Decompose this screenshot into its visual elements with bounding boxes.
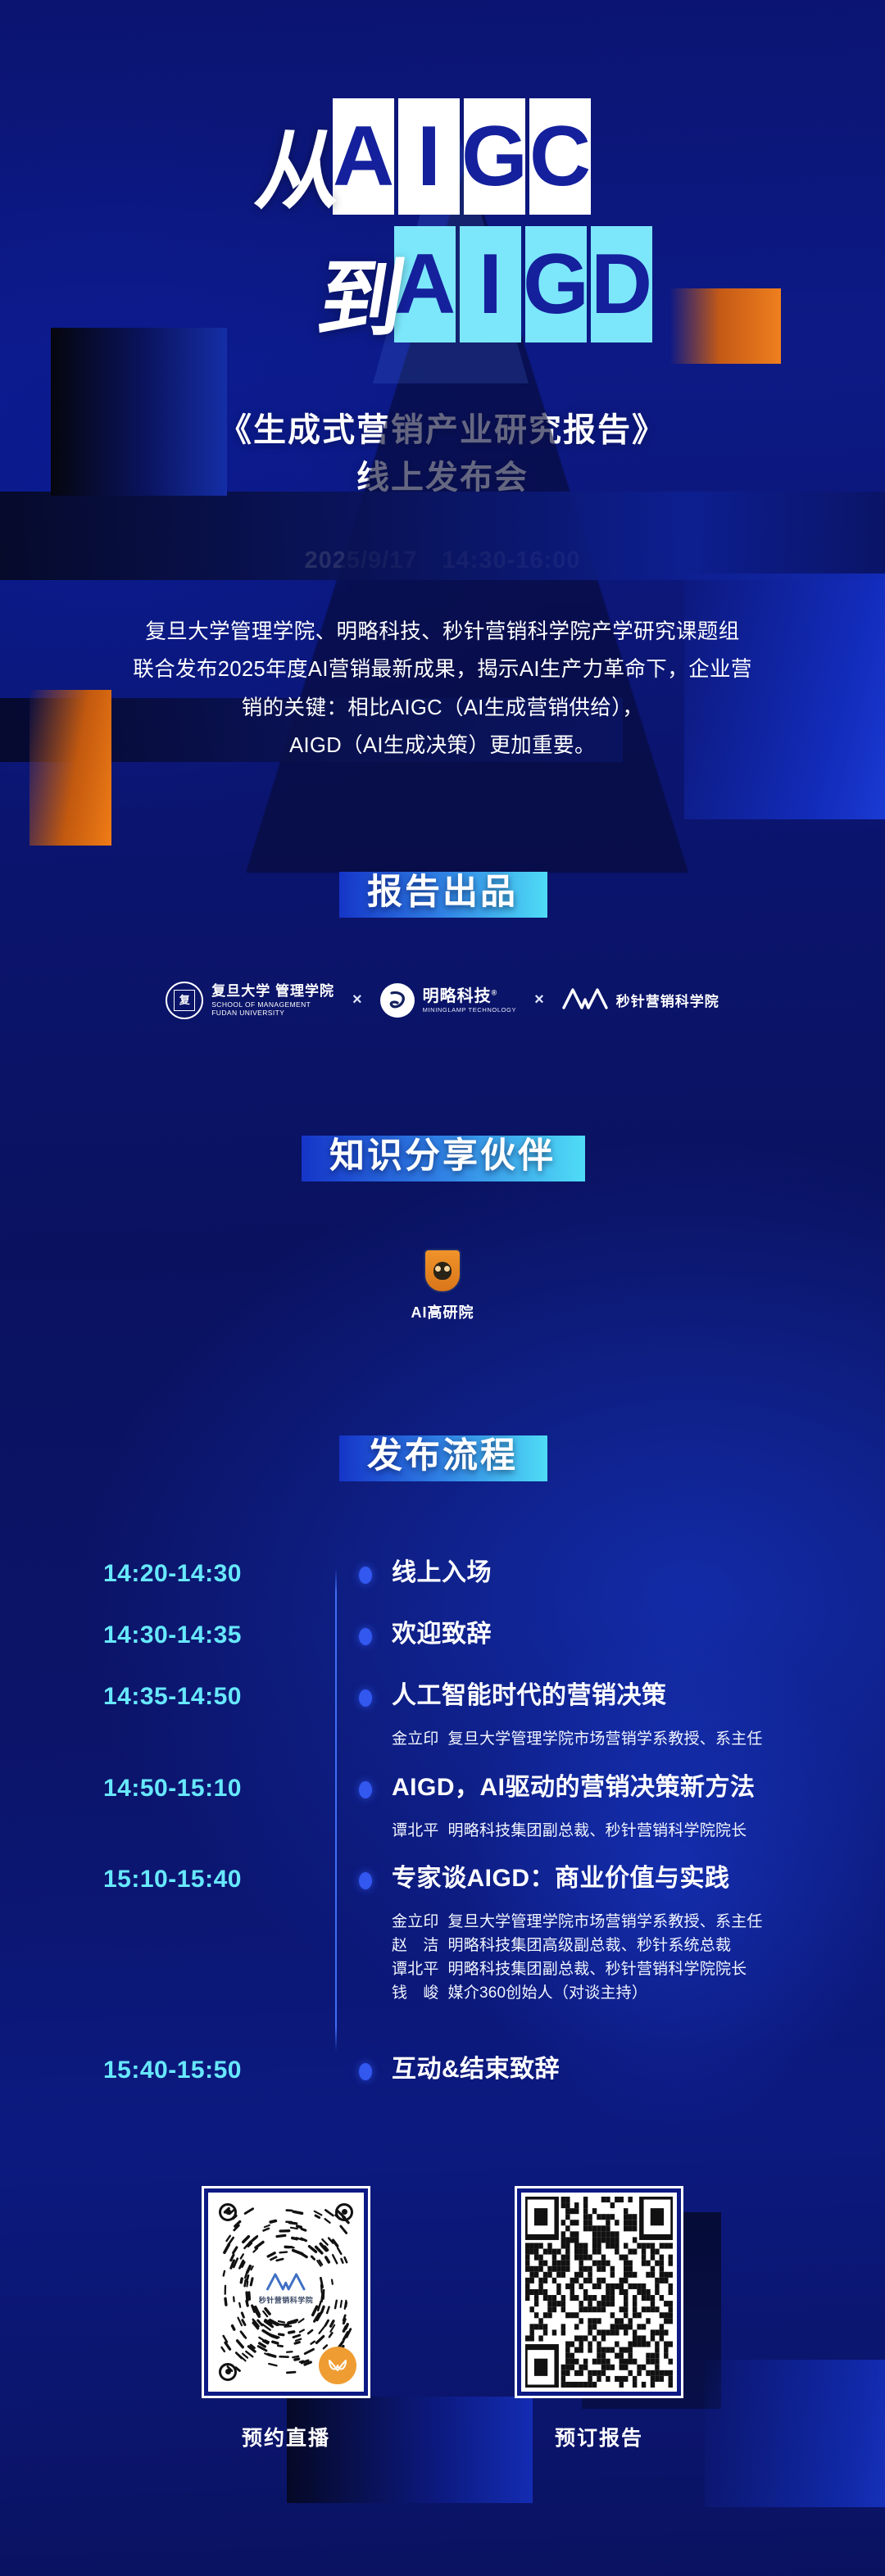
agenda-time: 14:30-14:35 xyxy=(103,1618,339,1649)
agenda-dot-cell xyxy=(339,1680,392,1707)
logo-minglamp: 明略科技® MININGLAMP TECHNOLOGY xyxy=(380,983,516,1018)
timeline-dot-icon xyxy=(359,1781,372,1798)
agenda-topic: 人工智能时代的营销决策 xyxy=(392,1680,836,1712)
agenda-speakers: 谭北平 明略科技集团副总裁、秒针营销科学院院长 xyxy=(392,1820,836,1844)
agenda-topic: 专家谈AIGD：商业价值与实践 xyxy=(392,1862,836,1894)
fudan-name-en-2: FUDAN UNIVERSITY xyxy=(211,1009,334,1017)
hero-title-cjk-from: 从 xyxy=(251,131,344,215)
miaozhen-mark-icon xyxy=(562,986,608,1014)
minglamp-name-cn: 明略科技® xyxy=(423,987,498,1005)
minglamp-text: 明略科技® MININGLAMP TECHNOLOGY xyxy=(423,986,516,1014)
agenda-topic: AIGD，AI驱动的营销决策新方法 xyxy=(392,1771,836,1803)
section-heading-partner-label: 知识分享伙伴 xyxy=(324,1136,560,1176)
section-heading-agenda-label: 发布流程 xyxy=(362,1436,523,1476)
agenda-row: 14:50-15:10 AIGD，AI驱动的营销决策新方法 谭北平 明略科技集团… xyxy=(103,1771,836,1844)
qr-caption-report: 预订报告 xyxy=(555,2422,643,2451)
letter-block-i1: I xyxy=(398,98,460,215)
agenda-time: 15:40-15:50 xyxy=(103,2053,339,2084)
event-type: 线上发布会 xyxy=(0,454,885,501)
minglamp-mark-icon xyxy=(380,983,415,1018)
agenda-dot-cell xyxy=(339,2053,392,2080)
knowledge-partner-logo: AI高研院 xyxy=(0,1249,885,1322)
miaozhen-name-cn: 秒针营销科学院 xyxy=(616,990,719,1010)
qr-center-logo: 秒针营销科学院 xyxy=(259,2271,314,2305)
hero-title-cjk-to: 到 xyxy=(312,259,406,342)
fudan-seal-char: 复 xyxy=(174,990,195,1011)
agenda-speakers: 金立印 复旦大学管理学院市场营销学系教授、系主任 赵 洁 明略科技集团高级副总裁… xyxy=(392,1911,836,2006)
spacer xyxy=(103,1594,836,1618)
qr-center-brand: 秒针营销科学院 xyxy=(259,2294,314,2305)
timeline-dot-icon xyxy=(359,2063,372,2080)
description-line-2: 联合发布2025年度AI营销最新成果，揭示AI生产力革命下，企业营 xyxy=(82,651,803,688)
fudan-text: 复旦大学 管理学院 SCHOOL OF MANAGEMENT FUDAN UNI… xyxy=(211,983,334,1017)
agenda-topic: 欢迎致辞 xyxy=(392,1618,836,1650)
hero-title-latin-aigd: A I G D xyxy=(394,226,656,342)
section-heading-agenda: 发布流程 xyxy=(362,1427,523,1478)
agenda-speaker: 赵 洁 明略科技集团高级副总裁、秒针系统总裁 xyxy=(392,1934,836,1958)
timeline-dot-icon xyxy=(359,1689,372,1707)
agenda-body: 人工智能时代的营销决策 金立印 复旦大学管理学院市场营销学系教授、系主任 xyxy=(392,1680,836,1752)
agenda-body: 互动&结束致辞 xyxy=(392,2053,836,2085)
event-datetime: 2025/9/17 14:30-16:00 xyxy=(0,541,885,575)
agenda-speaker: 谭北平 明略科技集团副总裁、秒针营销科学院院长 xyxy=(392,1820,836,1844)
spacer xyxy=(103,1848,836,1862)
multiply-icon-2: × xyxy=(534,991,544,1009)
description-line-3: 销的关键：相比AIGC（AI生成营销供给）， xyxy=(82,689,803,727)
qr-caption-live: 预约直播 xyxy=(242,2422,330,2451)
agenda-row: 14:35-14:50 人工智能时代的营销决策 金立印 复旦大学管理学院市场营销… xyxy=(103,1680,836,1752)
agenda-row: 14:20-14:30 线上入场 xyxy=(103,1557,836,1589)
agenda-row: 15:10-15:40 专家谈AIGD：商业价值与实践 金立印 复旦大学管理学院… xyxy=(103,1862,836,2006)
qr-finder-icon xyxy=(335,2203,353,2221)
event-description: 复旦大学管理学院、明略科技、秒针营销科学院产学研究课题组 联合发布2025年度A… xyxy=(82,613,803,765)
fudan-name-en-1: SCHOOL OF MANAGEMENT xyxy=(211,1000,334,1009)
agenda-speaker: 谭北平 明略科技集团副总裁、秒针营销科学院院长 xyxy=(392,1958,836,1982)
logo-miaozhen: 秒针营销科学院 xyxy=(562,986,719,1014)
qr-code-live-image: 秒针营销科学院 xyxy=(212,2197,360,2388)
timeline-dot-icon xyxy=(359,1872,372,1889)
report-subtitle: 《生成式营销产业研究报告》 线上发布会 xyxy=(0,406,885,501)
qr-finder-icon xyxy=(219,2363,237,2381)
agenda-dot-cell xyxy=(339,1862,392,1889)
agenda-dot-cell xyxy=(339,1618,392,1645)
report-name: 《生成式营销产业研究报告》 xyxy=(0,406,885,454)
poster-root: 从 A I G C 到 A I G D 《生成式营销产业研究报告》 线上发布会 … xyxy=(0,0,885,2576)
agenda-body: 专家谈AIGD：商业价值与实践 金立印 复旦大学管理学院市场营销学系教授、系主任… xyxy=(392,1862,836,2006)
hero-title-line-2: 到 A I G D xyxy=(0,226,885,342)
owl-shield-icon xyxy=(424,1249,461,1293)
section-heading-report: 报告出品 xyxy=(362,864,523,914)
description-line-4: AIGD（AI生成决策）更加重要。 xyxy=(82,727,803,764)
wechat-channel-icon xyxy=(319,2347,356,2384)
minglamp-name-en: MININGLAMP TECHNOLOGY xyxy=(423,1006,516,1014)
description-line-1: 复旦大学管理学院、明略科技、秒针营销科学院产学研究课题组 xyxy=(82,613,803,651)
fudan-seal-icon: 复 xyxy=(166,982,203,1019)
spacer xyxy=(103,1757,836,1771)
knowledge-partner-name: AI高研院 xyxy=(411,1301,474,1322)
letter-block-d2: D xyxy=(591,226,652,342)
owl-icon xyxy=(433,1262,452,1280)
letter-block-g2: G xyxy=(525,226,587,342)
agenda-body: 线上入场 xyxy=(392,1557,836,1589)
qr-code-report-image xyxy=(525,2197,673,2388)
hero-title-line-1: 从 A I G C xyxy=(0,98,885,215)
qr-col-report[interactable]: 预订报告 xyxy=(517,2188,681,2451)
spacer xyxy=(103,1655,836,1680)
agenda-speaker: 钱 峻 媒介360创始人（对谈主持） xyxy=(392,1982,836,2006)
qr-col-live[interactable]: 秒针营销科学院 预约直播 xyxy=(204,2188,368,2451)
fudan-name-cn: 复旦大学 管理学院 xyxy=(211,983,334,999)
qr-code-report[interactable] xyxy=(517,2188,681,2396)
agenda-time: 14:50-15:10 xyxy=(103,1771,339,1803)
section-heading-report-label: 报告出品 xyxy=(362,873,523,912)
letter-block-i2: I xyxy=(460,226,521,342)
hero-title-latin-aigc: A I G C xyxy=(333,98,595,215)
qr-finder-icon xyxy=(219,2203,237,2221)
section-heading-partner: 知识分享伙伴 xyxy=(324,1127,560,1178)
qr-code-section: 秒针营销科学院 预约直播 预订报告 xyxy=(0,2188,885,2451)
producer-logos: 复 复旦大学 管理学院 SCHOOL OF MANAGEMENT FUDAN U… xyxy=(0,982,885,1019)
timeline-dot-icon xyxy=(359,1567,372,1584)
agenda-dot-cell xyxy=(339,1557,392,1584)
agenda-time: 14:20-14:30 xyxy=(103,1557,339,1588)
agenda-body: AIGD，AI驱动的营销决策新方法 谭北平 明略科技集团副总裁、秒针营销科学院院… xyxy=(392,1771,836,1844)
agenda-time: 15:10-15:40 xyxy=(103,1862,339,1893)
agenda-row: 14:30-14:35 欢迎致辞 xyxy=(103,1618,836,1650)
spacer xyxy=(103,2011,836,2053)
logo-fudan: 复 复旦大学 管理学院 SCHOOL OF MANAGEMENT FUDAN U… xyxy=(166,982,334,1019)
letter-block-g1: G xyxy=(464,98,525,215)
timeline-dot-icon xyxy=(359,1628,372,1645)
qr-code-live[interactable]: 秒针营销科学院 xyxy=(204,2188,368,2396)
letter-block-a1: A xyxy=(333,98,394,215)
letter-block-a2: A xyxy=(394,226,456,342)
agenda-time: 14:35-14:50 xyxy=(103,1680,339,1711)
agenda-row: 15:40-15:50 互动&结束致辞 xyxy=(103,2053,836,2085)
agenda-timeline: 14:20-14:30 线上入场 14:30-14:35 欢迎致辞 14:35-… xyxy=(49,1557,836,2085)
agenda-speakers: 金立印 复旦大学管理学院市场营销学系教授、系主任 xyxy=(392,1728,836,1752)
agenda-dot-cell xyxy=(339,1771,392,1798)
agenda-topic: 互动&结束致辞 xyxy=(392,2053,836,2085)
agenda-speaker: 金立印 复旦大学管理学院市场营销学系教授、系主任 xyxy=(392,1911,836,1934)
registered-mark: ® xyxy=(492,988,498,996)
agenda-speaker: 金立印 复旦大学管理学院市场营销学系教授、系主任 xyxy=(392,1728,836,1752)
agenda-body: 欢迎致辞 xyxy=(392,1618,836,1650)
agenda-topic: 线上入场 xyxy=(392,1557,836,1589)
hero-title: 从 A I G C 到 A I G D xyxy=(0,0,885,342)
letter-block-c1: C xyxy=(529,98,591,215)
multiply-icon-1: × xyxy=(352,991,362,1009)
